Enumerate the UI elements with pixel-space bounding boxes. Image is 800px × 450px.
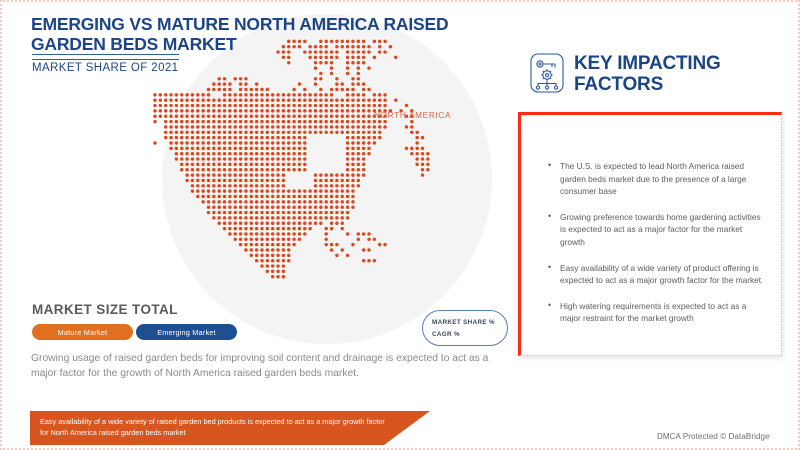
callout-line-1: MARKET SHARE %: [432, 317, 507, 329]
legend-title: MARKET SIZE TOTAL: [32, 302, 178, 317]
map-region-label: NORTH AMERICA: [374, 111, 451, 120]
list-item: Growing preference towards home gardenin…: [548, 211, 766, 249]
north-america-dot-map: [152, 30, 482, 330]
body-paragraph: Growing usage of raised garden beds for …: [31, 352, 491, 382]
list-item: The U.S. is expected to lead North Ameri…: [548, 160, 766, 198]
list-item: High watering requirements is expected t…: [548, 300, 766, 325]
footer-copyright: DMCA Protected © DataBridge: [657, 432, 770, 441]
legend-item-emerging-market[interactable]: Emerging Market: [136, 324, 237, 340]
infographic-page: EMERGING VS MATURE NORTH AMERICA RAISED …: [0, 0, 800, 450]
key-factors-list: The U.S. is expected to lead North Ameri…: [548, 160, 766, 338]
market-share-callout: MARKET SHARE % CAGR %: [422, 310, 508, 346]
callout-line-2: CAGR %: [432, 329, 507, 341]
key-impacting-factors-title: KEY IMPACTING FACTORS: [574, 54, 789, 95]
key-gear-network-icon: [529, 52, 565, 94]
legend-item-mature-market[interactable]: Mature Market: [32, 324, 133, 340]
list-item: Easy availability of a wide variety of p…: [548, 262, 766, 287]
highlight-banner-text: Easy availability of a wide variety of r…: [40, 417, 390, 439]
